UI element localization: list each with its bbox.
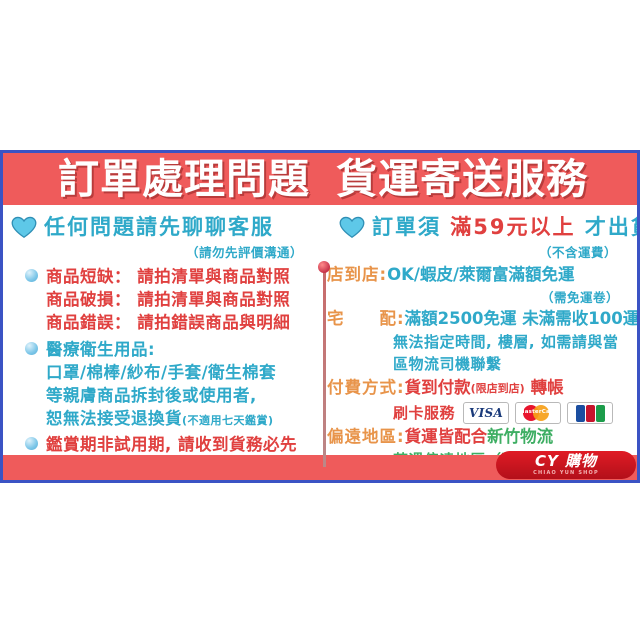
shipping-row-store: 店到店: OK/蝦皮/萊爾富滿額免運 （需免運卷） [327,263,637,306]
info-card: 訂單處理問題 貨運寄送服務 任何問題請先聊聊客服 （請勿先評價溝通） 商品短缺：… [0,150,640,483]
left-line: 商品錯誤： 請拍錯誤商品與明細 [46,311,290,334]
left-heading-note: （請勿先評價溝通） [3,242,303,261]
brand-mark: CY 購物 [535,454,597,469]
row-value-highlight: 新竹物流 [487,425,553,449]
row-value-tail: 轉帳 [531,376,564,400]
card-body: 任何問題請先聊聊客服 （請勿先評價溝通） 商品短缺： 請拍清單與商品對照 商品破… [3,205,637,458]
left-line: 等親膚商品拆封後或使用者, [46,384,276,407]
left-inline-note: (不適用七天鑑賞) [182,414,274,427]
row-extra: 無法指定時間, 樓層, 如需請與當 [393,331,637,353]
banner-title-right: 貨運寄送服務 [336,157,588,202]
heart-icon [339,216,365,239]
row-extra: 區物流司機聯繫 [393,353,637,375]
right-heading-post: 才出貨 [585,215,640,239]
left-group-1: 商品短缺： 請拍清單與商品對照 商品破損： 請拍清單與商品對照 商品錯誤： 請拍… [25,265,321,334]
left-group-2: 醫療衛生用品: 口罩/棉棒/紗布/手套/衛生棉套 等親膚商品拆封後或使用者, 恕… [25,338,321,430]
bottom-bar: CY 購物 CHIAO YUN SHOP [0,455,640,481]
heart-icon [11,216,37,239]
pin-head-icon [318,261,330,273]
right-heading-highlight: 滿59元以上 [450,215,575,239]
bullet-icon [25,437,38,450]
right-heading-text: 訂單須 滿59元以上 才出貨 [372,211,640,241]
title-banner: 訂單處理問題 貨運寄送服務 [0,153,640,205]
left-panel: 任何問題請先聊聊客服 （請勿先評價溝通） 商品短缺： 請拍清單與商品對照 商品破… [3,205,321,458]
card-logo-list: VISA MasterCard [463,402,613,424]
left-line: 鑑賞期非試用期, 請收到貨務必先 [46,433,301,456]
row-value: 貨到付款 [405,376,471,400]
left-line: 恕無法接受退換貨 [46,409,182,428]
brand-logo: CY 購物 CHIAO YUN SHOP [496,451,636,479]
row-value-small: (限店到店) [471,376,525,402]
row-note: （需免運卷） [327,287,619,306]
row-label: 宅 配: [327,307,405,331]
row-value: OK/蝦皮/萊爾富滿額免運 [387,263,574,287]
left-heading-text: 任何問題請先聊聊客服 [44,211,274,241]
right-heading-pre: 訂單須 [372,215,441,239]
payment-row: 付費方式: 貨到付款 (限店到店) 轉帳 刷卡服務 VISA [327,376,637,424]
column-divider [323,267,326,467]
card-service-label: 刷卡服務 [393,402,455,424]
row-label: 偏遠地區: [327,425,405,449]
shipping-row-home: 宅 配: 滿額2500免運 未滿需收100運費 無法指定時間, 樓層, 如需請與… [327,307,637,375]
right-panel: 訂單須 滿59元以上 才出貨 （不含運費） 店到店: OK/蝦皮/萊爾富滿額免運… [321,205,637,458]
left-heading-row: 任何問題請先聊聊客服 [11,211,321,241]
left-group-title: 醫療衛生用品: [46,338,276,361]
left-line: 口罩/棉棒/紗布/手套/衛生棉套 [46,361,276,384]
row-value: 滿額2500免運 未滿需收100運費 [405,307,640,331]
banner-title-left: 訂單處理問題 [58,157,310,202]
left-line-with-note: 恕無法接受退換貨(不適用七天鑑賞) [46,407,276,430]
left-line: 商品短缺： 請拍清單與商品對照 [46,265,290,288]
jcb-logo [567,402,613,424]
left-line: 商品破損： 請拍清單與商品對照 [46,288,290,311]
row-label: 店到店: [327,263,387,287]
row-label: 付費方式: [327,376,405,400]
visa-logo: VISA [463,402,509,424]
bullet-icon [25,342,38,355]
brand-subtitle: CHIAO YUN SHOP [533,470,599,477]
right-heading-note: （不含運費） [321,242,617,261]
mastercard-logo: MasterCard [515,402,561,424]
row-value-pre: 貨運皆配合 [405,425,488,449]
right-heading-row: 訂單須 滿59元以上 才出貨 [339,211,637,241]
bullet-icon [25,269,38,282]
